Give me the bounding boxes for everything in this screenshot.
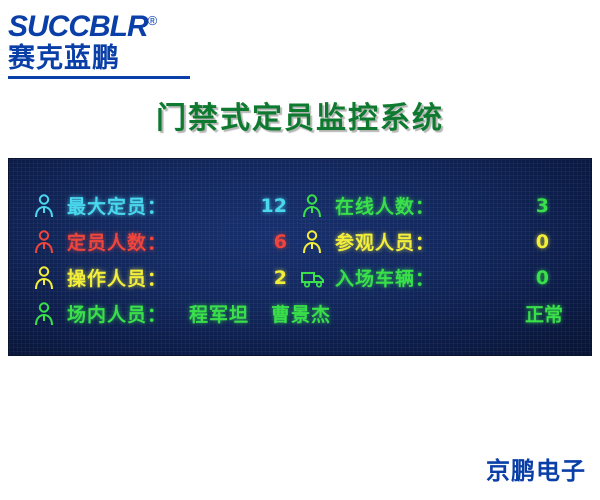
led-display-panel: 最大定员： 12 在线人数： 3 bbox=[8, 158, 592, 356]
led-content-area: 最大定员： 12 在线人数： 3 bbox=[33, 189, 577, 341]
logo-latin-text: SUCCBLR® bbox=[8, 6, 238, 42]
led-value: 12 bbox=[261, 195, 301, 217]
page-title: 门禁式定员监控系统 bbox=[0, 93, 600, 137]
led-label: 入场车辆： bbox=[335, 264, 435, 291]
person-name: 程军坦 bbox=[189, 304, 249, 326]
person-yellow-icon bbox=[33, 266, 55, 290]
led-row: 最大定员： 12 在线人数： 3 bbox=[33, 189, 577, 222]
led-row: 定员人数： 6 参观人员： 0 bbox=[33, 225, 577, 258]
status-badge: 正常 bbox=[525, 300, 577, 327]
led-label: 参观人员： bbox=[335, 228, 435, 255]
led-label: 最大定员： bbox=[67, 192, 167, 219]
led-field-vehicle-count: 入场车辆： 0 bbox=[301, 264, 563, 291]
led-value: 0 bbox=[536, 267, 563, 289]
person-name-list: 程军坦曹景杰 bbox=[189, 300, 353, 327]
person-red-icon bbox=[33, 230, 55, 254]
led-label: 在线人数： bbox=[335, 192, 435, 219]
led-label: 操作人员： bbox=[67, 264, 167, 291]
person-cyan-icon bbox=[33, 194, 55, 218]
led-field-visitor-count: 参观人员： 0 bbox=[301, 228, 563, 255]
led-value: 0 bbox=[536, 231, 563, 253]
company-logo: SUCCBLR® 赛克蓝鹏 bbox=[8, 6, 238, 72]
truck-green-icon bbox=[301, 266, 323, 290]
led-field-operator-count: 操作人员： 2 bbox=[33, 264, 301, 291]
logo-chinese-label: 赛克蓝鹏 bbox=[8, 44, 238, 74]
led-field-quota-count: 定员人数： 6 bbox=[33, 228, 301, 255]
logo-underline-divider bbox=[8, 76, 190, 79]
footer-brand-label: 京鹏电子 bbox=[486, 451, 586, 486]
led-value: 6 bbox=[274, 231, 301, 253]
logo-latin-label: SUCCBLR bbox=[8, 10, 148, 43]
led-label: 定员人数： bbox=[67, 228, 167, 255]
person-green-icon bbox=[301, 194, 323, 218]
registered-trademark-icon: ® bbox=[148, 13, 157, 28]
person-green-icon bbox=[33, 302, 55, 326]
led-value: 2 bbox=[274, 267, 301, 289]
person-yellow-icon bbox=[301, 230, 323, 254]
led-row: 操作人员： 2 入场车辆： 0 bbox=[33, 261, 577, 294]
led-field-persons-onsite: 场内人员： 程军坦曹景杰 正常 bbox=[33, 297, 577, 330]
person-name: 曹景杰 bbox=[271, 304, 331, 326]
led-field-max-capacity: 最大定员： 12 bbox=[33, 192, 301, 219]
led-label: 场内人员： bbox=[67, 300, 167, 327]
led-field-online-count: 在线人数： 3 bbox=[301, 192, 563, 219]
led-value: 3 bbox=[536, 195, 563, 217]
